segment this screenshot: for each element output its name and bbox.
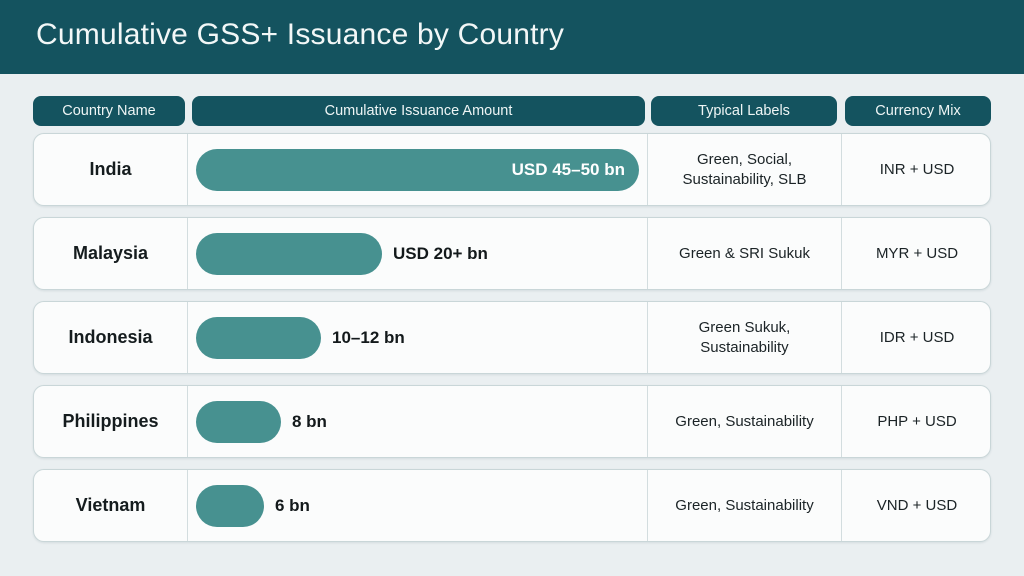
bar-track: 10–12 bn <box>196 302 647 373</box>
bar-track: USD 45–50 bn <box>196 134 647 205</box>
country-name: Vietnam <box>76 495 146 516</box>
country-name: Malaysia <box>73 243 148 264</box>
currency-mix-text: IDR + USD <box>880 329 955 346</box>
issuance-bar[interactable] <box>196 401 281 443</box>
issuance-bar[interactable] <box>196 233 382 275</box>
table-row[interactable]: Vietnam6 bnGreen, SustainabilityVND + US… <box>33 469 991 542</box>
issuance-bar[interactable]: USD 45–50 bn <box>196 149 639 191</box>
bar-value-label-inside: USD 45–50 bn <box>512 160 639 180</box>
cell-amount: 10–12 bn <box>188 302 648 373</box>
cell-typical-labels: Green Sukuk, Sustainability <box>648 302 842 373</box>
issuance-bar[interactable] <box>196 485 264 527</box>
table-header-row: Country Name Cumulative Issuance Amount … <box>33 96 991 126</box>
bar-value-label-outside: 10–12 bn <box>321 328 405 348</box>
bar-value-label-outside: USD 20+ bn <box>382 244 488 264</box>
typical-labels-text: Green, Sustainability <box>675 496 813 516</box>
issuance-bar[interactable] <box>196 317 321 359</box>
title-banner: Cumulative GSS+ Issuance by Country <box>0 0 1024 74</box>
cell-currency-mix: IDR + USD <box>842 302 991 373</box>
bar-track: 6 bn <box>196 470 647 541</box>
column-header-country: Country Name <box>33 96 185 126</box>
infographic-page: Cumulative GSS+ Issuance by Country Coun… <box>0 0 1024 576</box>
table-row[interactable]: MalaysiaUSD 20+ bnGreen & SRI SukukMYR +… <box>33 217 991 290</box>
country-name: Philippines <box>62 411 158 432</box>
typical-labels-text: Green, Sustainability <box>675 412 813 432</box>
bar-value-label-outside: 6 bn <box>264 496 310 516</box>
cell-typical-labels: Green, Sustainability <box>648 470 842 541</box>
bar-track: 8 bn <box>196 386 647 457</box>
cell-country: Indonesia <box>34 302 188 373</box>
cell-typical-labels: Green & SRI Sukuk <box>648 218 842 289</box>
cell-typical-labels: Green, Sustainability <box>648 386 842 457</box>
table-row[interactable]: IndiaUSD 45–50 bnGreen, Social, Sustaina… <box>33 133 991 206</box>
typical-labels-text: Green Sukuk, Sustainability <box>658 318 831 358</box>
column-header-labels: Typical Labels <box>651 96 837 126</box>
country-name: India <box>89 159 131 180</box>
cell-country: India <box>34 134 188 205</box>
country-name: Indonesia <box>68 327 152 348</box>
page-title: Cumulative GSS+ Issuance by Country <box>36 18 564 52</box>
currency-mix-text: PHP + USD <box>877 413 956 430</box>
cell-currency-mix: INR + USD <box>842 134 991 205</box>
table-row[interactable]: Philippines8 bnGreen, SustainabilityPHP … <box>33 385 991 458</box>
bar-track: USD 20+ bn <box>196 218 647 289</box>
cell-amount: USD 20+ bn <box>188 218 648 289</box>
cell-country: Philippines <box>34 386 188 457</box>
bar-value-label-outside: 8 bn <box>281 412 327 432</box>
table-body: IndiaUSD 45–50 bnGreen, Social, Sustaina… <box>33 133 991 553</box>
cell-currency-mix: PHP + USD <box>842 386 991 457</box>
typical-labels-text: Green, Social, Sustainability, SLB <box>658 150 831 190</box>
cell-country: Vietnam <box>34 470 188 541</box>
currency-mix-text: INR + USD <box>880 161 955 178</box>
cell-amount: 8 bn <box>188 386 648 457</box>
typical-labels-text: Green & SRI Sukuk <box>679 244 810 264</box>
cell-country: Malaysia <box>34 218 188 289</box>
cell-currency-mix: VND + USD <box>842 470 991 541</box>
cell-currency-mix: MYR + USD <box>842 218 991 289</box>
cell-typical-labels: Green, Social, Sustainability, SLB <box>648 134 842 205</box>
column-header-amount: Cumulative Issuance Amount <box>192 96 645 126</box>
cell-amount: USD 45–50 bn <box>188 134 648 205</box>
table-row[interactable]: Indonesia10–12 bnGreen Sukuk, Sustainabi… <box>33 301 991 374</box>
currency-mix-text: VND + USD <box>877 497 957 514</box>
currency-mix-text: MYR + USD <box>876 245 958 262</box>
cell-amount: 6 bn <box>188 470 648 541</box>
column-header-currency: Currency Mix <box>845 96 991 126</box>
